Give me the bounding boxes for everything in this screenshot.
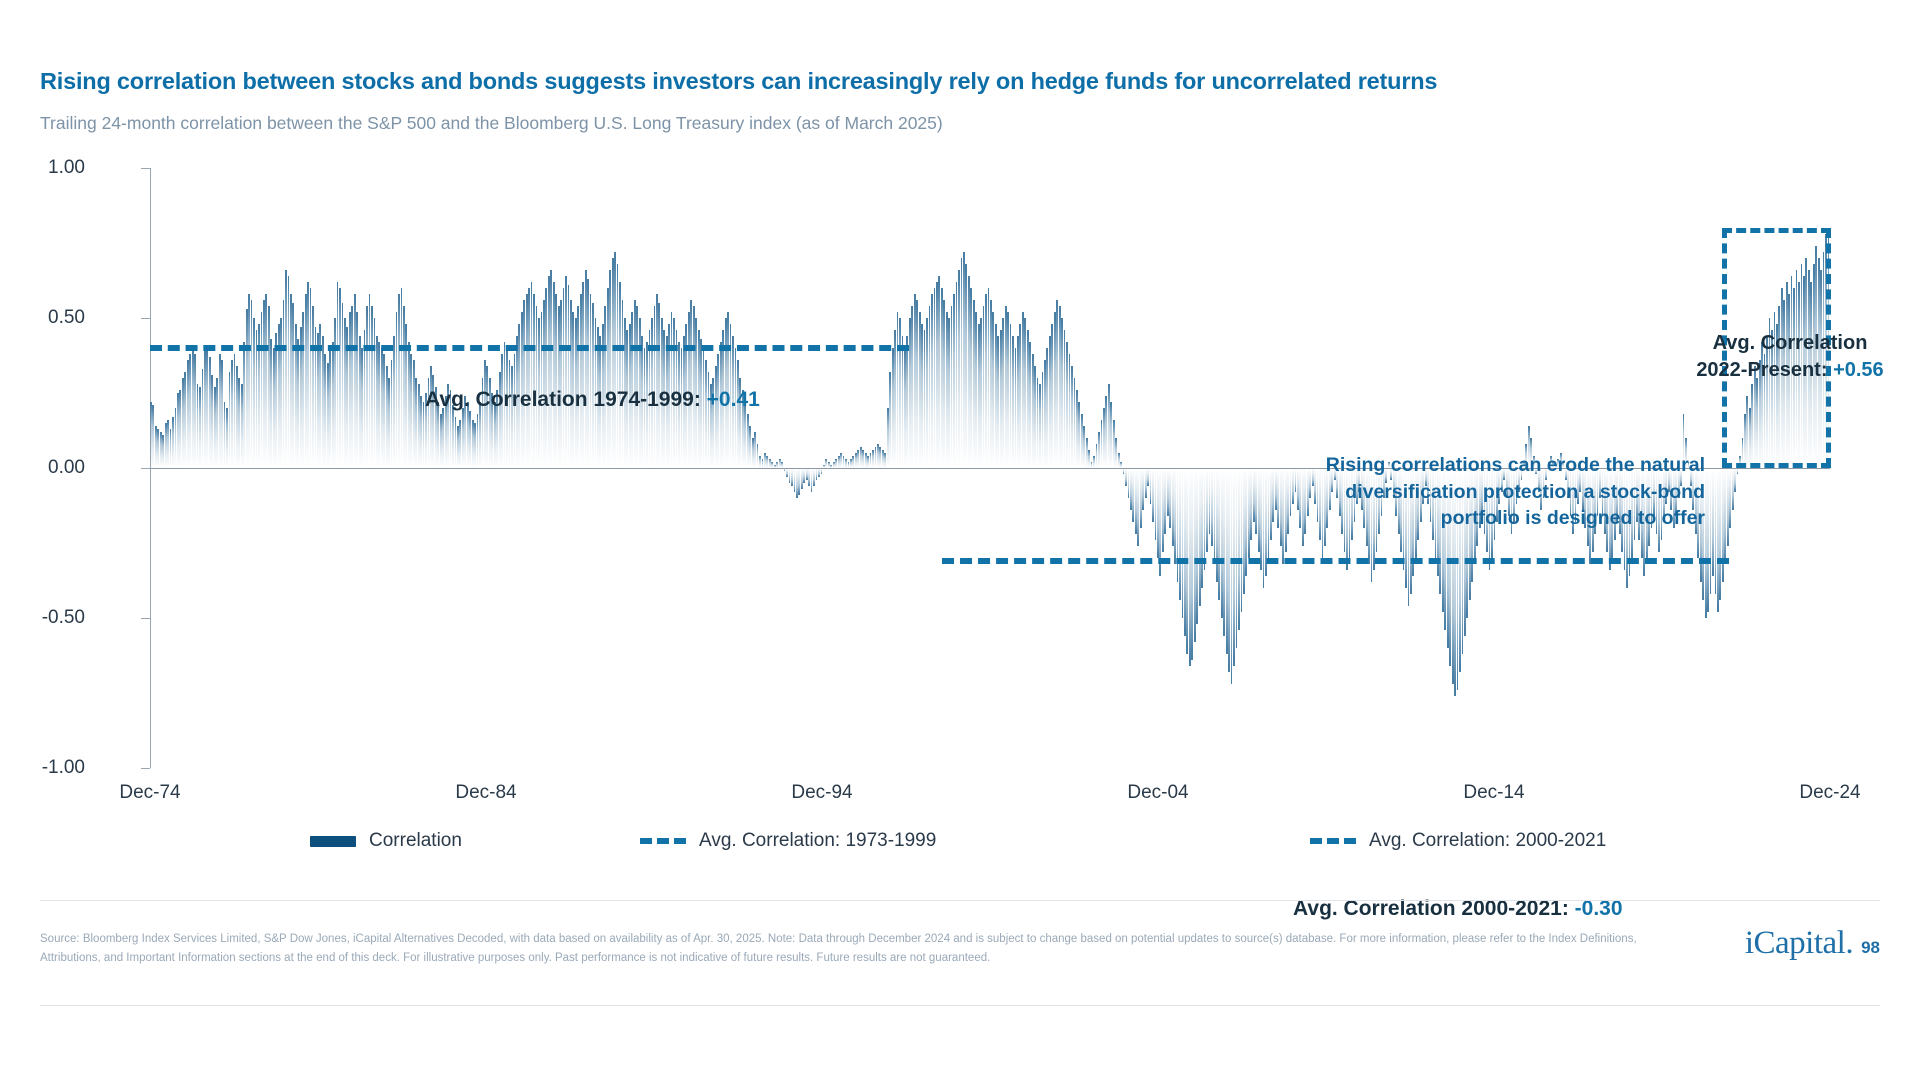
- avg-correlation-line: [150, 345, 909, 351]
- annotation-callout: Rising correlations can erode the natura…: [1295, 452, 1705, 532]
- y-tick: [141, 318, 150, 319]
- bar: [821, 468, 823, 474]
- legend-swatch-dashed-icon: [640, 838, 686, 844]
- footer-divider-top: [40, 900, 1880, 901]
- annotation-avg-2022-present-line2: 2022-Present: +0.56: [1660, 357, 1920, 384]
- annotation-avg-2022-present-label: 2022-Present:: [1696, 359, 1833, 381]
- y-tick-label: 0.00: [0, 457, 85, 479]
- annotation-avg-2022-present-line1: Avg. Correlation: [1660, 330, 1920, 357]
- y-tick: [141, 468, 150, 469]
- y-tick-label: 1.00: [0, 157, 85, 179]
- page-subtitle: Trailing 24-month correlation between th…: [40, 113, 1540, 134]
- x-tick-label: Dec-74: [119, 782, 180, 804]
- legend-item[interactable]: Correlation: [310, 830, 462, 852]
- bar: [1737, 468, 1739, 474]
- y-tick: [141, 618, 150, 619]
- legend-label: Avg. Correlation: 2000-2021: [1369, 830, 1606, 852]
- avg-correlation-line: [942, 558, 1728, 564]
- legend-label: Correlation: [369, 830, 462, 852]
- y-tick-label: -1.00: [0, 757, 85, 779]
- source-note: Source: Bloomberg Index Services Limited…: [40, 930, 1690, 968]
- x-tick-label: Dec-94: [791, 782, 852, 804]
- annotation-avg-1974-1999: Avg. Correlation 1974-1999: +0.41: [425, 388, 760, 412]
- legend-swatch-solid-icon: [310, 836, 356, 847]
- brand-block: iCapital. 98: [1745, 925, 1880, 962]
- slide-root: Rising correlation between stocks and bo…: [0, 0, 1920, 1080]
- y-tick-label: -0.50: [0, 607, 85, 629]
- x-tick-label: Dec-04: [1127, 782, 1188, 804]
- page-title: Rising correlation between stocks and bo…: [40, 68, 1640, 95]
- x-tick-label: Dec-24: [1799, 782, 1860, 804]
- annotation-avg-1974-1999-value: +0.41: [707, 388, 760, 411]
- annotation-avg-1974-1999-label: Avg. Correlation 1974-1999:: [425, 388, 707, 411]
- correlation-chart: 1.000.500.00-0.50-1.00 Dec-74Dec-84Dec-9…: [40, 160, 1880, 800]
- footer-divider-bottom: [40, 1005, 1880, 1006]
- legend-item[interactable]: Avg. Correlation: 1973-1999: [640, 830, 936, 852]
- y-tick: [141, 168, 150, 169]
- legend-label: Avg. Correlation: 1973-1999: [699, 830, 936, 852]
- y-tick-label: 0.50: [0, 307, 85, 329]
- legend-item[interactable]: Avg. Correlation: 2000-2021: [1310, 830, 1606, 852]
- legend-swatch-dashed-icon: [1310, 838, 1356, 844]
- icapital-logo: iCapital.: [1745, 925, 1853, 962]
- chart-legend: CorrelationAvg. Correlation: 1973-1999Av…: [0, 830, 1920, 870]
- page-number: 98: [1861, 938, 1880, 958]
- annotation-avg-2022-present-value: +0.56: [1833, 359, 1884, 381]
- x-tick-label: Dec-84: [455, 782, 516, 804]
- y-tick: [141, 768, 150, 769]
- x-tick-label: Dec-14: [1463, 782, 1524, 804]
- annotation-avg-2022-present: Avg. Correlation 2022-Present: +0.56: [1660, 330, 1920, 384]
